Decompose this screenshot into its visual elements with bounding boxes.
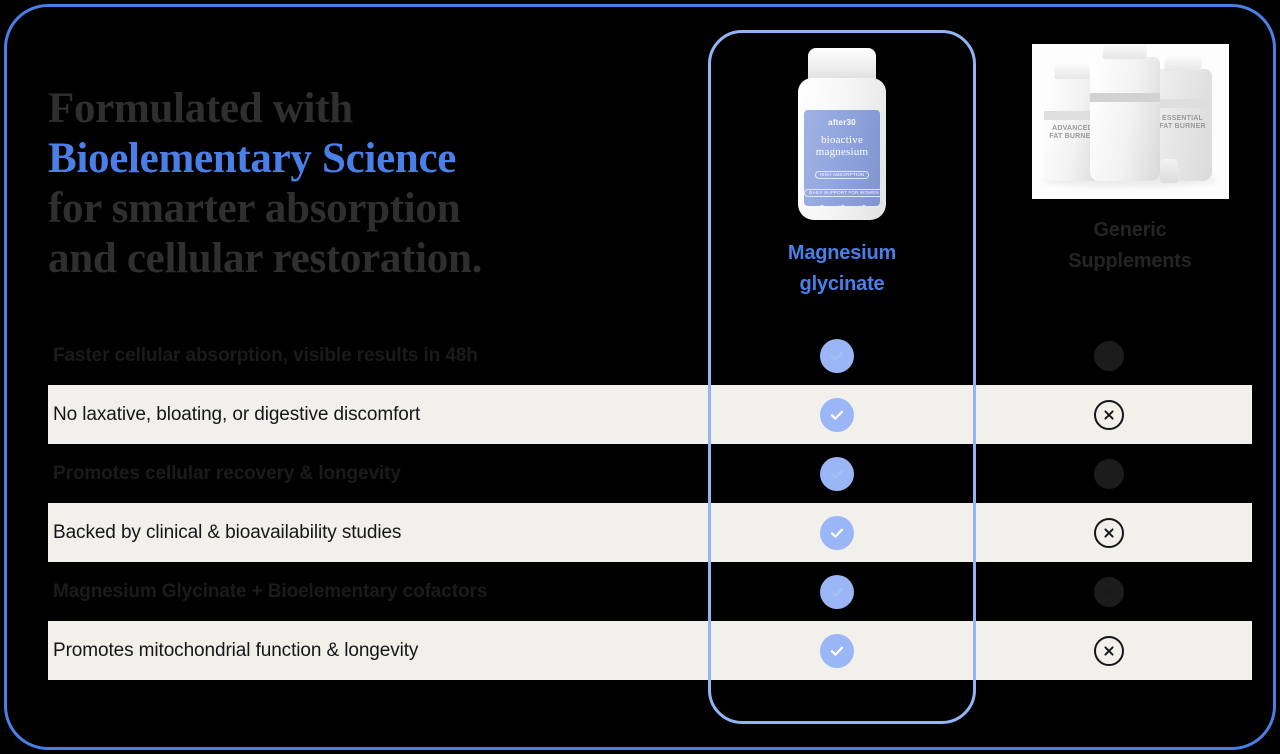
row-cell-generic — [971, 577, 1247, 607]
table-row: Promotes cellular recovery & longevity — [48, 444, 1252, 503]
check-icon — [820, 634, 854, 668]
row-cell-generic — [971, 341, 1247, 371]
check-icon — [820, 457, 854, 491]
column-title-product-line-2: glycinate — [712, 269, 972, 300]
row-feature-label: Backed by clinical & bioavailability stu… — [48, 522, 708, 544]
bottle-cap — [808, 48, 876, 82]
bottle-claim-2: DAILY SUPPORT FOR WOMEN 30+ — [804, 189, 880, 197]
table-row: Promotes mitochondrial function & longev… — [48, 621, 1252, 680]
generic-bottle-center-band — [1090, 93, 1160, 102]
row-cell-product — [703, 457, 971, 491]
row-cell-generic — [971, 459, 1247, 489]
headline-line-3: for smarter absorption — [48, 184, 668, 234]
bottle-claims: HIGH ABSORPTION DAILY SUPPORT FOR WOMEN … — [804, 163, 880, 199]
generic-bottles-image: ADVANCED FAT BURNER ESSENTIAL FAT BURNER — [1032, 44, 1229, 199]
row-cell-generic — [971, 400, 1247, 430]
row-cell-product — [703, 398, 971, 432]
table-row: Faster cellular absorption, visible resu… — [48, 326, 1252, 385]
cross-icon — [1094, 636, 1124, 666]
generic-bottle-right-band — [1154, 99, 1212, 108]
benefit-icon-3 — [856, 205, 870, 206]
column-header-generic: ADVANCED FAT BURNER ESSENTIAL FAT BURNER… — [1010, 44, 1250, 277]
headline-line-2-accent: Bioelementary Science — [48, 134, 668, 184]
bottle-label: after30 bioactive magnesium HIGH ABSORPT… — [804, 110, 880, 206]
column-header-product: after30 bioactive magnesium HIGH ABSORPT… — [712, 44, 972, 300]
row-feature-label: No laxative, bloating, or digestive disc… — [48, 404, 708, 426]
check-icon — [820, 339, 854, 373]
cross-icon — [1094, 341, 1124, 371]
row-cell-product — [703, 516, 971, 550]
bottle-benefit-icons — [804, 205, 880, 206]
column-title-product-line-1: Magnesium — [712, 238, 972, 269]
table-row: Backed by clinical & bioavailability stu… — [48, 503, 1252, 562]
generic-bottle-left-cap — [1054, 64, 1091, 79]
bottle-name-line-2: magnesium — [804, 146, 880, 158]
bottle-name-line-1: bioactive — [804, 134, 880, 146]
cross-icon — [1094, 400, 1124, 430]
generic-bottle-right-label-line1: ESSENTIAL — [1154, 115, 1212, 123]
comparison-card: Formulated with Bioelementary Science fo… — [0, 0, 1280, 754]
headline-line-1: Formulated with — [48, 84, 668, 134]
table-row: No laxative, bloating, or digestive disc… — [48, 385, 1252, 444]
column-title-product: Magnesium glycinate — [712, 238, 972, 300]
generic-bottle-right-label: ESSENTIAL FAT BURNER — [1154, 115, 1212, 131]
check-icon — [820, 516, 854, 550]
generic-bottle-right-cap — [1164, 56, 1201, 71]
generic-bottle-center-cap — [1102, 44, 1147, 59]
cross-icon — [1094, 518, 1124, 548]
generic-bottle-center — [1090, 57, 1160, 181]
check-icon — [820, 575, 854, 609]
page-title: Formulated with Bioelementary Science fo… — [48, 84, 668, 284]
cross-icon — [1094, 577, 1124, 607]
row-cell-product — [703, 339, 971, 373]
bottle-brand-logo: after30 — [804, 118, 880, 127]
row-cell-product — [703, 575, 971, 609]
column-title-generic-line-2: Supplements — [1010, 246, 1250, 277]
table-row: Magnesium Glycinate + Bioelementary cofa… — [48, 562, 1252, 621]
benefit-icon-1 — [814, 205, 828, 206]
row-cell-generic — [971, 518, 1247, 548]
comparison-table: Faster cellular absorption, visible resu… — [48, 326, 1252, 680]
benefit-icon-2 — [835, 205, 849, 206]
product-bottle-image: after30 bioactive magnesium HIGH ABSORPT… — [782, 44, 902, 224]
column-title-generic: Generic Supplements — [1010, 215, 1250, 277]
cross-icon — [1094, 459, 1124, 489]
bottle-claim-1: HIGH ABSORPTION — [815, 171, 870, 179]
row-feature-label: Promotes mitochondrial function & longev… — [48, 640, 708, 662]
row-feature-label: Promotes cellular recovery & longevity — [48, 463, 708, 485]
headline-line-4: and cellular restoration. — [48, 234, 668, 284]
generic-pill — [1160, 159, 1178, 183]
row-feature-label: Faster cellular absorption, visible resu… — [48, 345, 708, 367]
check-icon — [820, 398, 854, 432]
row-feature-label: Magnesium Glycinate + Bioelementary cofa… — [48, 581, 708, 603]
row-cell-generic — [971, 636, 1247, 666]
column-title-generic-line-1: Generic — [1010, 215, 1250, 246]
generic-bottle-right-label-line2: FAT BURNER — [1154, 123, 1212, 131]
row-cell-product — [703, 634, 971, 668]
